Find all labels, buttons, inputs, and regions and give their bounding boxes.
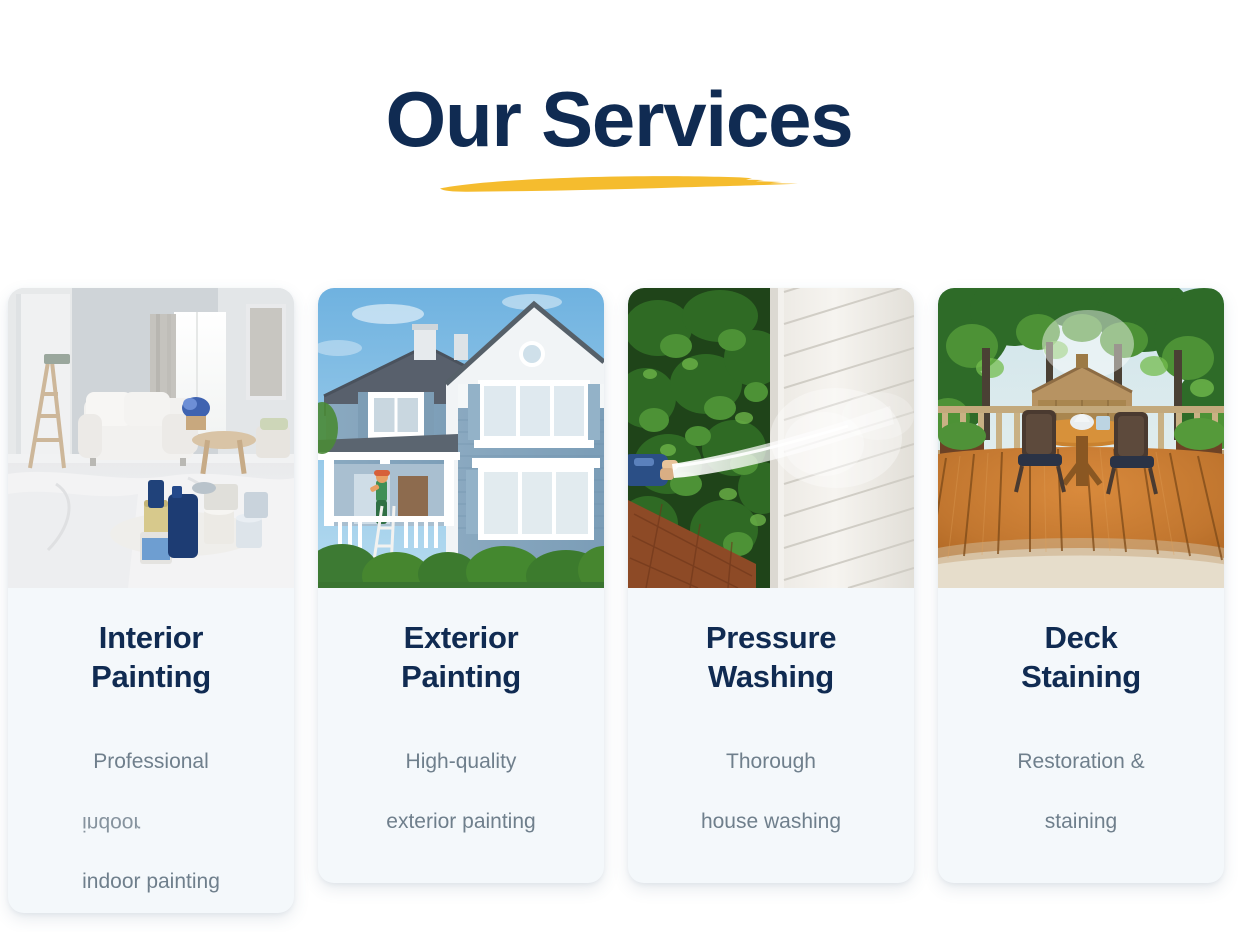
card-description: Restoration & staining xyxy=(952,717,1210,837)
service-card-deck-staining[interactable]: Deck Staining Restoration & staining xyxy=(938,288,1224,883)
interior-room-being-painted-image xyxy=(8,288,294,588)
card-description-line-2: house washing xyxy=(701,810,841,833)
card-description-line-1: Thorough xyxy=(726,750,816,773)
card-title: Deck Staining xyxy=(952,618,1210,696)
card-description-ghost-overlay: indoor painting xyxy=(22,808,280,838)
service-card-pressure-washing[interactable]: Pressure Washing Thorough house washing xyxy=(628,288,914,883)
card-body: Pressure Washing Thorough house washing xyxy=(628,588,914,883)
card-title: Exterior Painting xyxy=(332,618,590,696)
section-header: Our Services xyxy=(0,72,1238,198)
card-title: Pressure Washing xyxy=(642,618,900,696)
service-card-interior-painting[interactable]: Interior Painting Professional indoor pa… xyxy=(8,288,294,913)
ghost-word: indoor xyxy=(82,812,140,835)
page-title: Our Services xyxy=(0,72,1238,166)
card-description: Thorough house washing xyxy=(642,717,900,837)
card-description: Professional indoor painting indoor pain… xyxy=(22,717,280,867)
card-description-line-2: exterior painting xyxy=(386,810,535,833)
card-title: Interior Painting xyxy=(22,618,280,696)
services-section: Our Services xyxy=(0,0,1238,932)
title-underline-brushstroke xyxy=(434,172,804,198)
card-description: High-quality exterior painting xyxy=(332,717,590,837)
card-description-line-2-glitched: indoor painting indoor painting xyxy=(22,807,280,837)
card-description-line-1: High-quality xyxy=(406,750,517,773)
card-description-line-1: Restoration & xyxy=(1017,750,1144,773)
card-description-line-1: Professional xyxy=(93,750,209,773)
card-body: Interior Painting Professional indoor pa… xyxy=(8,588,294,913)
service-card-exterior-painting[interactable]: Exterior Painting High-quality exterior … xyxy=(318,288,604,883)
service-card-grid: Interior Painting Professional indoor pa… xyxy=(8,288,1230,913)
card-body: Exterior Painting High-quality exterior … xyxy=(318,588,604,883)
pressure-washing-siding-image xyxy=(628,288,914,588)
blue-victorian-house-exterior-image xyxy=(318,288,604,588)
card-body: Deck Staining Restoration & staining xyxy=(938,588,1224,883)
card-description-line-2: staining xyxy=(1045,810,1117,833)
stained-wooden-deck-image xyxy=(938,288,1224,588)
card-description-line-2: indoor painting xyxy=(82,870,220,893)
